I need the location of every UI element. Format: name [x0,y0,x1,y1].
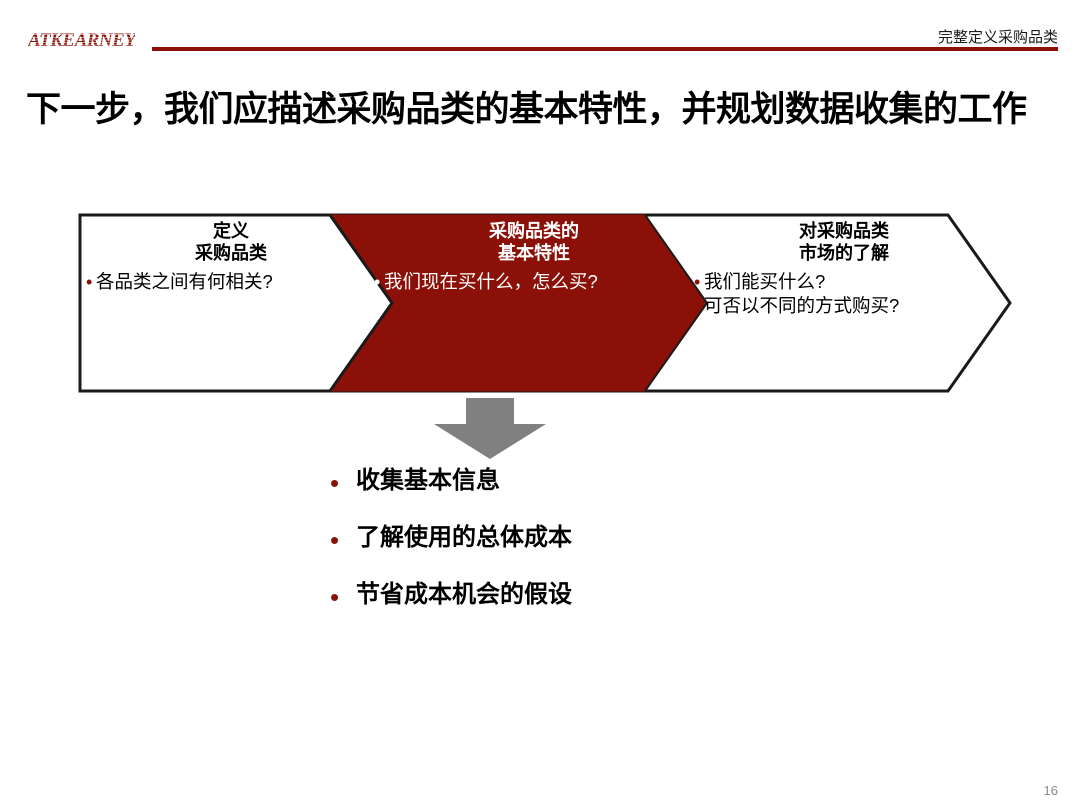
bullet-item: • 可否以不同的方式购买? [694,295,994,318]
bullet-text: 我们能买什么? [704,271,994,294]
page-number: 16 [1044,783,1058,798]
process-segment-define-heading: 定义 采购品类 [86,221,376,265]
bullet-dot-icon: • [694,295,704,317]
bullet-text: 我们现在买什么，怎么买? [384,271,694,294]
list-item: • 节省成本机会的假设 [330,582,850,610]
header-divider-rule [152,47,1058,51]
process-segment-basic-characteristics-heading: 采购品类的 基本特性 [374,221,694,265]
process-segment-basic-characteristics-bullets: • 我们现在买什么，怎么买? [374,271,694,294]
list-item: • 了解使用的总体成本 [330,525,850,553]
bullet-dot-icon: • [330,582,356,610]
bullet-item: • 我们现在买什么，怎么买? [374,271,694,294]
process-chevron-band: 定义 采购品类 • 各品类之间有何相关? 采购品类的 基本特性 • 我们现在买什… [78,213,1012,393]
outcome-text: 了解使用的总体成本 [356,525,850,551]
process-segment-basic-characteristics[interactable]: 采购品类的 基本特性 • 我们现在买什么，怎么买? [374,213,694,393]
process-segment-define[interactable]: 定义 采购品类 • 各品类之间有何相关? [86,213,376,393]
bullet-item: • 我们能买什么? [694,271,994,294]
process-segment-market-understanding-heading: 对采购品类 市场的了解 [694,221,994,265]
process-segment-market-understanding[interactable]: 对采购品类 市场的了解 • 我们能买什么? • 可否以不同的方式购买? [694,213,994,393]
bullet-dot-icon: • [86,271,96,293]
slide-canvas: ATKEARNEY 完整定义采购品类 下一步，我们应描述采购品类的基本特性，并规… [0,0,1080,810]
process-segment-define-bullets: • 各品类之间有何相关? [86,271,376,294]
down-arrow-icon [432,398,548,460]
bullet-text: 可否以不同的方式购买? [704,295,994,318]
bullet-item: • 各品类之间有何相关? [86,271,376,294]
bullet-dot-icon: • [330,468,356,496]
bullet-dot-icon: • [694,271,704,293]
outcome-text: 收集基本信息 [356,468,850,494]
list-item: • 收集基本信息 [330,468,850,496]
atkearney-logo: ATKEARNEY [28,30,135,52]
outcomes-list: • 收集基本信息 • 了解使用的总体成本 • 节省成本机会的假设 [330,468,850,639]
bullet-dot-icon: • [330,525,356,553]
bullet-text: 各品类之间有何相关? [96,271,376,294]
outcome-text: 节省成本机会的假设 [356,582,850,608]
down-arrow-shape [434,398,546,459]
process-segment-market-understanding-bullets: • 我们能买什么? • 可否以不同的方式购买? [694,271,994,318]
bullet-dot-icon: • [374,271,384,293]
page-title: 下一步，我们应描述采购品类的基本特性，并规划数据收集的工作 [26,89,1054,132]
header-topic-label: 完整定义采购品类 [938,26,1058,47]
